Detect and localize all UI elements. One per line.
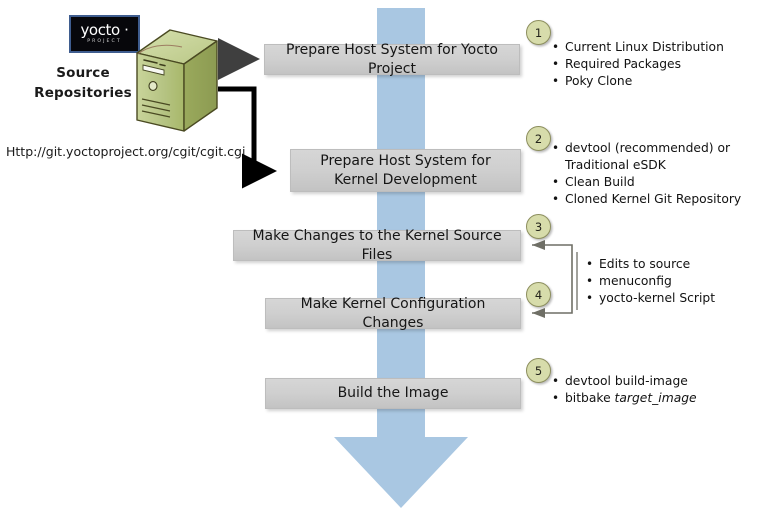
server-tower-icon — [132, 27, 218, 135]
bitbake-label: bitbake — [565, 391, 615, 405]
target-image-placeholder: target_image — [615, 391, 697, 405]
diagram-canvas: yocto · PROJECT Source Repositories Http… — [0, 0, 769, 517]
process-box-step2[interactable]: Prepare Host System for Kernel Developme… — [290, 149, 521, 192]
list-item: bitbake target_image — [552, 390, 697, 407]
list-item: Clean Build — [552, 174, 752, 191]
bullet-list-steps3-4: Edits to source menuconfig yocto-kernel … — [586, 256, 715, 307]
logo-subtext: PROJECT — [87, 40, 122, 45]
bullet-list-step2: devtool (recommended) or Traditional eSD… — [552, 140, 752, 208]
bullet-list-step1: Current Linux Distribution Required Pack… — [552, 39, 724, 90]
process-box-step3[interactable]: Make Changes to the Kernel Source Files — [233, 230, 521, 261]
list-item: yocto-kernel Script — [586, 290, 715, 307]
list-item: Poky Clone — [552, 73, 724, 90]
process-box-step4[interactable]: Make Kernel Configuration Changes — [265, 298, 521, 329]
list-item: Edits to source — [586, 256, 715, 273]
list-item: menuconfig — [586, 273, 715, 290]
step-number-3: 3 — [526, 214, 551, 239]
logo-wordmark: yocto · — [80, 23, 128, 38]
process-box-step1[interactable]: Prepare Host System for Yocto Project — [264, 44, 520, 75]
source-repository-url: Http://git.yoctoproject.org/cgit/cgit.cg… — [6, 144, 245, 159]
list-item: Required Packages — [552, 56, 724, 73]
step-number-5: 5 — [526, 358, 551, 383]
source-label-line2: Repositories — [22, 83, 144, 103]
source-repositories-label: Source Repositories — [22, 63, 144, 103]
source-label-line1: Source — [22, 63, 144, 83]
step-number-1: 1 — [526, 20, 551, 45]
list-item: devtool (recommended) or Traditional eSD… — [552, 140, 752, 174]
list-item: Cloned Kernel Git Repository — [552, 191, 752, 208]
list-item: devtool build-image — [552, 373, 697, 390]
process-box-step5[interactable]: Build the Image — [265, 378, 521, 409]
list-item: Current Linux Distribution — [552, 39, 724, 56]
bullet-list-step5: devtool build-image bitbake target_image — [552, 373, 697, 407]
yocto-project-logo: yocto · PROJECT — [69, 15, 140, 53]
step-number-2: 2 — [526, 126, 551, 151]
step-number-4: 4 — [526, 282, 551, 307]
